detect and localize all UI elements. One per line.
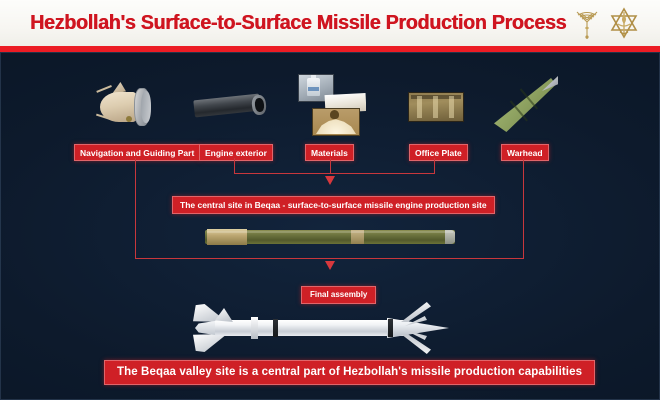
connector-line-warhead-drop <box>523 158 524 258</box>
final-assembly-label: Final assembly <box>301 286 376 304</box>
component-label-office-plate: Office Plate <box>409 144 468 161</box>
infographic-slide: Hezbollah's Surface-to-Surface Missile P… <box>0 0 660 400</box>
header-accent-rule <box>0 46 660 52</box>
arrow-into-final-assembly <box>325 261 335 270</box>
connector-line-materials-drop <box>330 158 331 173</box>
page-title: Hezbollah's Surface-to-Surface Missile P… <box>30 8 529 38</box>
assembled-engine-tube-photo <box>205 228 455 246</box>
component-label-engine-exterior: Engine exterior <box>199 144 273 161</box>
engine-tube-photo <box>190 84 276 128</box>
connector-line-navigation-drop <box>135 158 136 258</box>
idf-intelligence-emblem-icon <box>572 6 602 40</box>
conclusion-banner: The Beqaa valley site is a central part … <box>104 360 595 385</box>
component-label-warhead: Warhead <box>501 144 549 161</box>
component-label-navigation: Navigation and Guiding Part <box>74 144 200 161</box>
header-bar: Hezbollah's Surface-to-Surface Missile P… <box>0 0 660 46</box>
missile-nose-section-photo <box>96 76 162 138</box>
connector-bus-lower <box>135 258 524 259</box>
connector-bus-upper <box>234 173 435 174</box>
logo-group <box>572 6 644 42</box>
connector-line-engine-drop <box>234 158 235 173</box>
arrow-into-central-site <box>325 176 335 185</box>
connector-line-plate-drop <box>434 158 435 173</box>
orifice-plate-photo <box>408 92 464 122</box>
idf-emblem-icon <box>608 6 640 40</box>
assembled-missile-render <box>175 302 455 354</box>
warhead-cone-photo <box>492 70 564 140</box>
central-site-label: The central site in Beqaa - surface-to-s… <box>172 196 495 214</box>
propellant-materials-collage-photo <box>298 72 366 138</box>
